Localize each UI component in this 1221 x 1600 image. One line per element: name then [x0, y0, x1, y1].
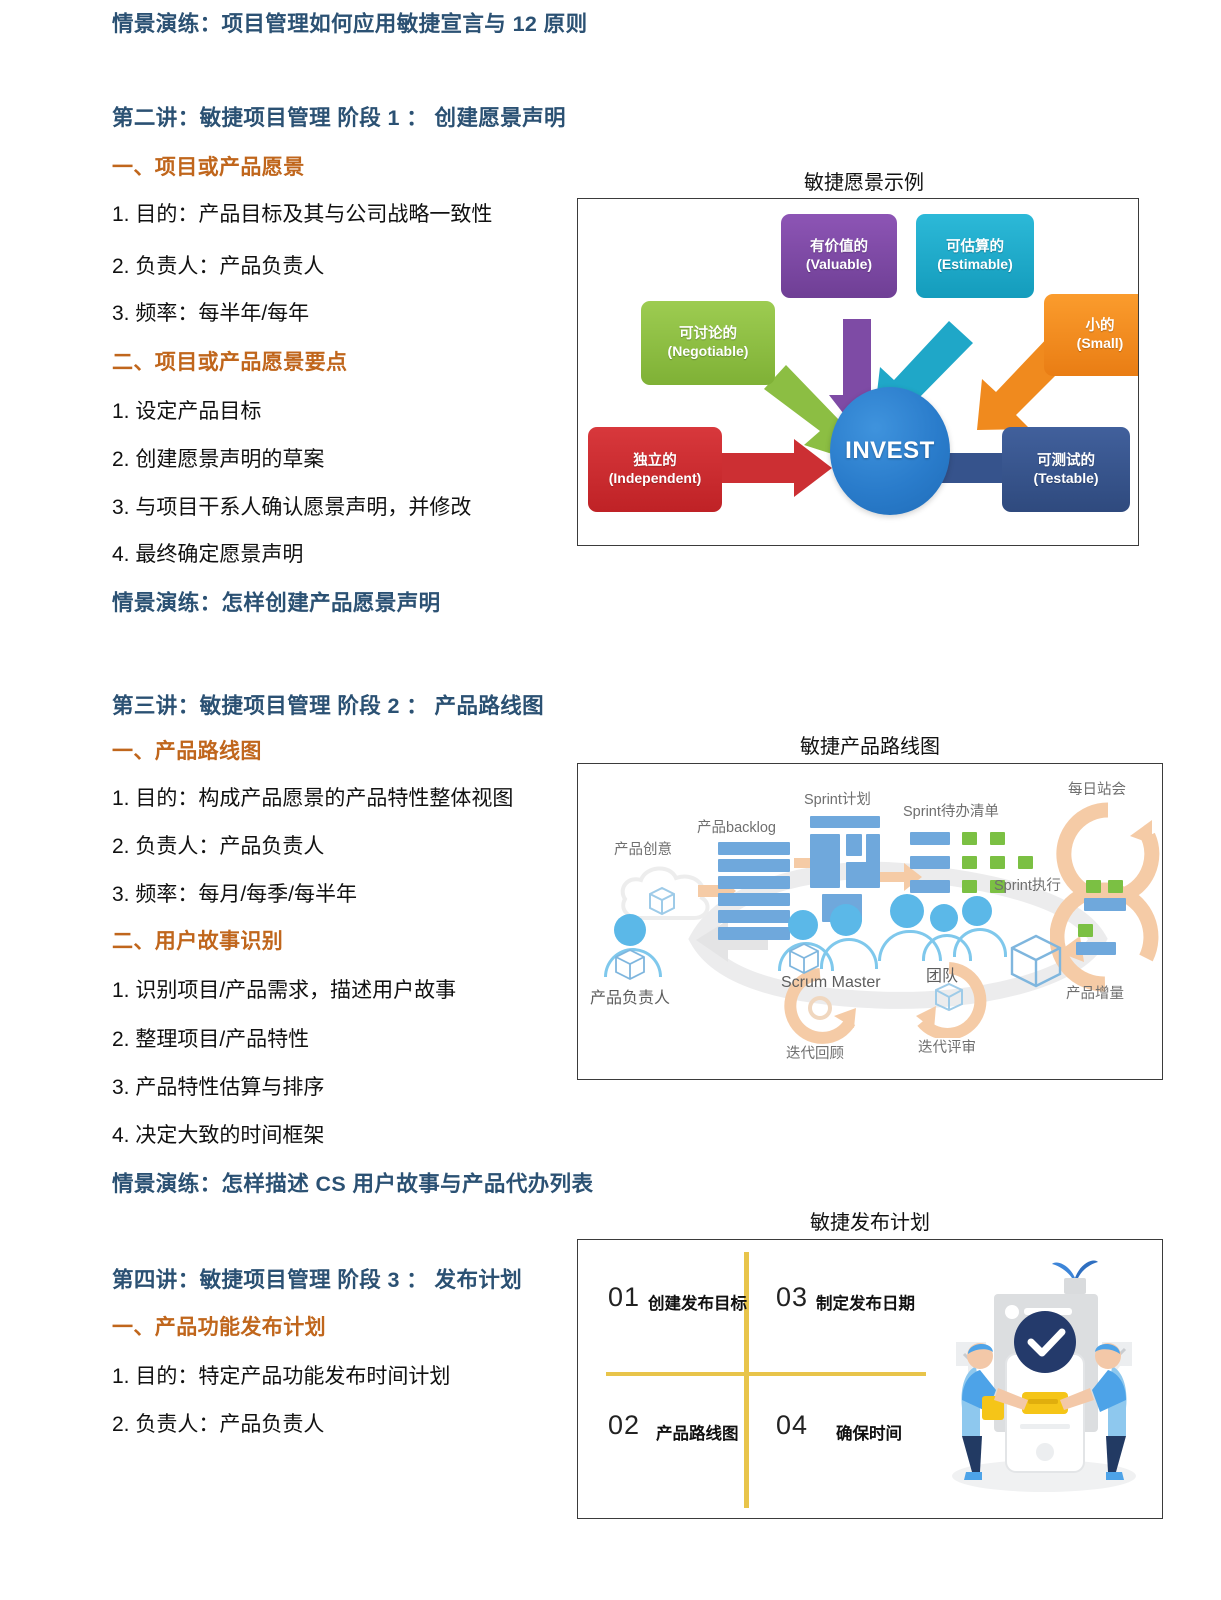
avatar	[614, 914, 646, 946]
sprint-plan-bar	[810, 834, 840, 888]
release-plan-number-03: 03	[776, 1282, 808, 1313]
roadmap-figure: 产品创意 产品backlog Sprint计划	[577, 763, 1163, 1080]
roadmap-label-product-idea: 产品创意	[614, 838, 672, 859]
list-item: 2. 整理项目/产品特性	[112, 1027, 309, 1052]
top-practice-note: 情景演练：项目管理如何应用敏捷宣言与 12 原则	[112, 12, 587, 38]
release-plan-figure-caption: 敏捷发布计划	[577, 1206, 1163, 1235]
sprint-plan-bar	[810, 816, 880, 828]
invest-card-en: (Negotiable)	[668, 343, 749, 361]
invest-card-cn: 可讨论的	[679, 325, 737, 343]
invest-card-testable: 可测试的 (Testable)	[1002, 427, 1130, 512]
lecture-2-title: 第二讲：敏捷项目管理 阶段 1 ： 创建愿景声明	[112, 106, 566, 132]
release-plan-figure: 01 创建发布目标 03 制定发布日期 02 产品路线图 04 确保时间	[577, 1239, 1163, 1519]
release-plan-label-02: 产品路线图	[656, 1420, 739, 1444]
invest-card-valuable: 有价值的 (Valuable)	[781, 214, 897, 298]
roadmap-label-product-backlog: 产品backlog	[697, 816, 776, 837]
roadmap-label-sprint-execution: Sprint执行	[994, 874, 1061, 895]
roadmap-label-sprint-plan: Sprint计划	[804, 788, 871, 809]
invest-card-negotiable: 可讨论的 (Negotiable)	[641, 301, 775, 385]
sprint-plan-bar	[846, 862, 880, 888]
avatar	[962, 896, 992, 926]
sprint-backlog-chip	[990, 856, 1005, 869]
invest-card-en: (Valuable)	[806, 256, 872, 274]
avatar	[830, 904, 862, 936]
list-item: 4. 决定大致的时间框架	[112, 1123, 324, 1148]
release-plan-number-04: 04	[776, 1410, 808, 1441]
release-plan-number-02: 02	[608, 1410, 640, 1441]
invest-card-small: 小的 (Small)	[1044, 294, 1139, 376]
list-item: 2. 负责人：产品负责人	[112, 254, 324, 279]
release-plan-illustration	[936, 1250, 1152, 1508]
lecture-2-group-1-heading: 一、项目或产品愿景	[112, 155, 305, 180]
invest-card-independent: 独立的 (Independent)	[588, 427, 722, 512]
list-item: 2. 创建愿景声明的草案	[112, 447, 324, 472]
roadmap-label-scrum-master: Scrum Master	[781, 974, 881, 992]
release-plan-divider-horizontal	[606, 1372, 926, 1376]
sprint-backlog-chip	[990, 832, 1005, 845]
invest-card-cn: 可估算的	[946, 238, 1004, 256]
cube-icon	[612, 946, 648, 982]
lecture-3-group-2-heading: 二、用户故事识别	[112, 929, 283, 954]
list-item: 1. 目的：特定产品功能发布时间计划	[112, 1364, 450, 1389]
sprint-backlog-chip	[962, 880, 977, 893]
list-item: 2. 负责人：产品负责人	[112, 1412, 324, 1437]
roadmap-label-iteration-review: 迭代评审	[918, 1036, 976, 1057]
roadmap-label-product-owner: 产品负责人	[590, 984, 670, 1008]
release-plan-label-04: 确保时间	[836, 1420, 902, 1444]
backlog-bar	[718, 842, 790, 855]
roadmap-label-daily-standup: 每日站会	[1068, 778, 1126, 799]
roadmap-label-team: 团队	[926, 962, 958, 986]
list-item: 1. 目的：产品目标及其与公司战略一致性	[112, 202, 492, 227]
sprint-backlog-chip	[962, 856, 977, 869]
roadmap-label-product-increment: 产品增量	[1066, 982, 1124, 1003]
avatar	[890, 894, 924, 928]
sprint-backlog-chip	[962, 832, 977, 845]
invest-card-en: (Testable)	[1033, 470, 1098, 488]
invest-card-cn: 有价值的	[810, 238, 868, 256]
backlog-bar	[718, 893, 790, 906]
sprint-exec-bar	[1076, 942, 1116, 955]
invest-diagram: INVEST 可讨论的 (Negotiable) 有价值的 (Valuable)…	[578, 199, 1138, 545]
cube-icon	[786, 940, 822, 976]
lecture-3-title: 第三讲：敏捷项目管理 阶段 2 ： 产品路线图	[112, 694, 544, 720]
lecture-3-group-1-heading: 一、产品路线图	[112, 739, 262, 764]
invest-center-label: INVEST	[845, 437, 935, 465]
release-plan-label-01: 创建发布目标	[648, 1290, 747, 1314]
backlog-bar	[718, 859, 790, 872]
sprint-plan-bar	[846, 834, 862, 856]
invest-card-estimable: 可估算的 (Estimable)	[916, 214, 1034, 298]
list-item: 3. 频率：每半年/每年	[112, 301, 309, 326]
list-item: 4. 最终确定愿景声明	[112, 542, 303, 567]
invest-card-en: (Estimable)	[937, 256, 1012, 274]
list-item: 3. 频率：每月/每季/每半年	[112, 882, 357, 907]
list-item: 1. 识别项目/产品需求，描述用户故事	[112, 978, 456, 1003]
release-plan-label-03: 制定发布日期	[816, 1290, 915, 1314]
sprint-exec-chip	[1108, 880, 1123, 893]
backlog-bar	[718, 927, 790, 940]
list-item: 1. 目的：构成产品愿景的产品特性整体视图	[112, 786, 513, 811]
invest-figure-caption: 敏捷愿景示例	[590, 166, 1138, 195]
backlog-bar	[718, 910, 790, 923]
release-plan-number-01: 01	[608, 1282, 640, 1313]
avatar	[788, 910, 818, 940]
lecture-4-group-1-heading: 一、产品功能发布计划	[112, 1315, 326, 1340]
roadmap-figure-caption: 敏捷产品路线图	[577, 730, 1163, 759]
invest-card-en: (Independent)	[609, 470, 702, 488]
sprint-exec-chip	[1078, 924, 1093, 937]
lecture-3-practice: 情景演练：怎样描述 CS 用户故事与产品代办列表	[112, 1172, 593, 1198]
invest-figure: INVEST 可讨论的 (Negotiable) 有价值的 (Valuable)…	[577, 198, 1139, 546]
lecture-2-group-2-heading: 二、项目或产品愿景要点	[112, 350, 347, 375]
lecture-2-practice: 情景演练：怎样创建产品愿景声明	[112, 591, 441, 617]
invest-card-cn: 独立的	[633, 452, 677, 470]
document-page: 情景演练：项目管理如何应用敏捷宣言与 12 原则 第二讲：敏捷项目管理 阶段 1…	[0, 0, 1221, 1600]
list-item: 1. 设定产品目标	[112, 399, 261, 424]
list-item: 3. 产品特性估算与排序	[112, 1075, 324, 1100]
avatar	[930, 904, 958, 932]
sprint-backlog-chip	[1018, 856, 1033, 869]
backlog-bar	[718, 876, 790, 889]
sprint-backlog-bar	[910, 880, 950, 893]
invest-card-cn: 小的	[1086, 317, 1115, 335]
sprint-backlog-bar	[910, 856, 950, 869]
invest-card-en: (Small)	[1077, 335, 1124, 353]
list-item: 3. 与项目干系人确认愿景声明，并修改	[112, 495, 471, 520]
sprint-exec-chip	[1086, 880, 1101, 893]
roadmap-label-iteration-retrospective: 迭代回顾	[786, 1042, 844, 1063]
roadmap-label-sprint-backlog: Sprint待办清单	[903, 800, 999, 821]
product-increment-cube-icon	[1006, 930, 1066, 992]
sprint-exec-bar	[1084, 898, 1126, 911]
invest-card-cn: 可测试的	[1037, 452, 1095, 470]
invest-center-circle: INVEST	[830, 387, 950, 515]
sprint-backlog-bar	[910, 832, 950, 845]
list-item: 2. 负责人：产品负责人	[112, 834, 324, 859]
lecture-4-title: 第四讲：敏捷项目管理 阶段 3 ： 发布计划	[112, 1268, 522, 1294]
